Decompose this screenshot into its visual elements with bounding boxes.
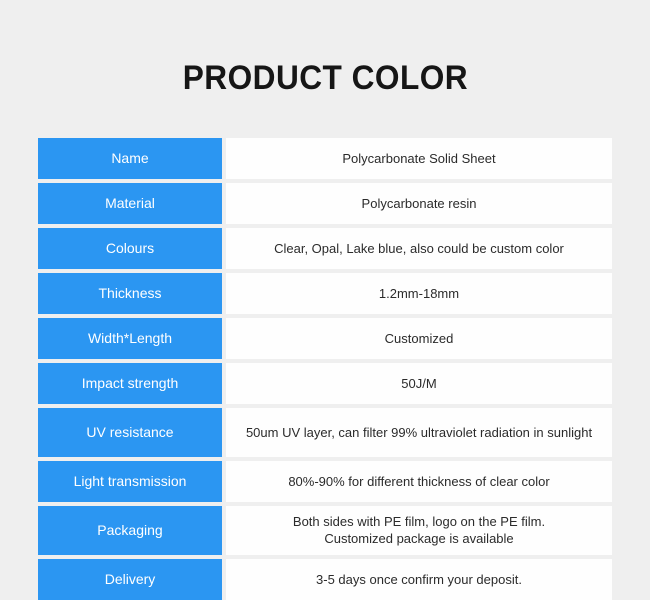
spec-value-cell: Polycarbonate resin xyxy=(226,183,612,224)
table-row: NamePolycarbonate Solid Sheet xyxy=(38,138,612,179)
table-row: ColoursClear, Opal, Lake blue, also coul… xyxy=(38,228,612,269)
spec-label-cell: UV resistance xyxy=(38,408,222,457)
spec-value-cell: 1.2mm-18mm xyxy=(226,273,612,314)
page-title: PRODUCT COLOR xyxy=(182,59,467,97)
table-row: MaterialPolycarbonate resin xyxy=(38,183,612,224)
spec-value-cell: 50um UV layer, can filter 99% ultraviole… xyxy=(226,408,612,457)
spec-label-cell: Packaging xyxy=(38,506,222,555)
page-title-container: PRODUCT COLOR xyxy=(0,0,650,138)
spec-value-cell: 3-5 days once confirm your deposit. xyxy=(226,559,612,600)
spec-value-cell: Customized xyxy=(226,318,612,359)
spec-label-cell: Width*Length xyxy=(38,318,222,359)
specification-table: NamePolycarbonate Solid SheetMaterialPol… xyxy=(38,138,612,600)
spec-value-cell: 80%-90% for different thickness of clear… xyxy=(226,461,612,502)
table-row: UV resistance50um UV layer, can filter 9… xyxy=(38,408,612,457)
spec-label-cell: Impact strength xyxy=(38,363,222,404)
table-row: Delivery3-5 days once confirm your depos… xyxy=(38,559,612,600)
table-row: Light transmission80%-90% for different … xyxy=(38,461,612,502)
spec-label-cell: Thickness xyxy=(38,273,222,314)
spec-label-cell: Colours xyxy=(38,228,222,269)
spec-label-cell: Name xyxy=(38,138,222,179)
spec-label-cell: Material xyxy=(38,183,222,224)
spec-value-cell: Polycarbonate Solid Sheet xyxy=(226,138,612,179)
product-color-page: PRODUCT COLOR NamePolycarbonate Solid Sh… xyxy=(0,0,650,592)
table-row: Impact strength50J/M xyxy=(38,363,612,404)
spec-value-cell: Both sides with PE film, logo on the PE … xyxy=(226,506,612,555)
table-row: PackagingBoth sides with PE film, logo o… xyxy=(38,506,612,555)
spec-label-cell: Light transmission xyxy=(38,461,222,502)
spec-label-cell: Delivery xyxy=(38,559,222,600)
table-row: Width*LengthCustomized xyxy=(38,318,612,359)
table-row: Thickness1.2mm-18mm xyxy=(38,273,612,314)
spec-value-cell: Clear, Opal, Lake blue, also could be cu… xyxy=(226,228,612,269)
spec-value-cell: 50J/M xyxy=(226,363,612,404)
